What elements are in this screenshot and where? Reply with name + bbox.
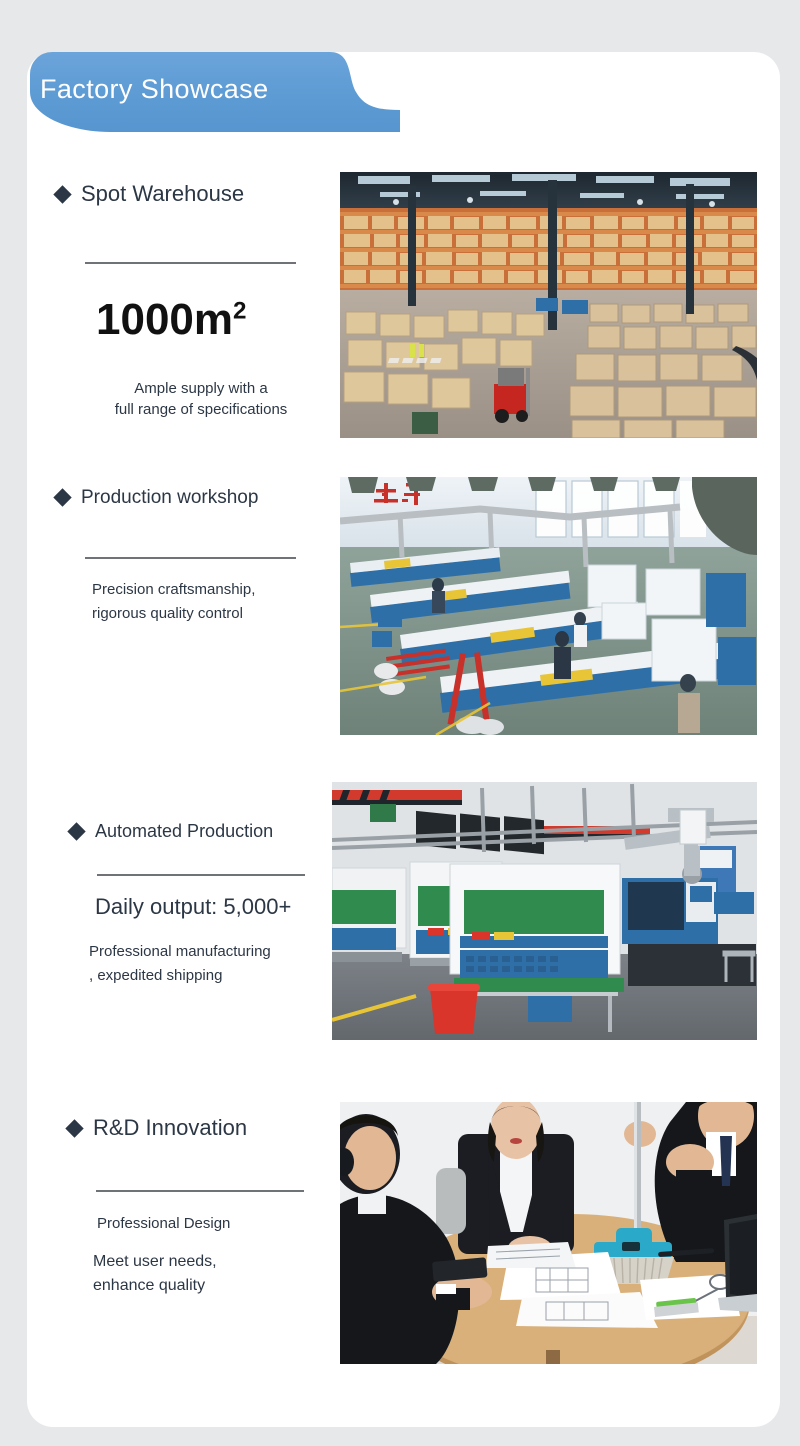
section-1-description: Ample supply with a full range of specif… [86, 378, 316, 420]
rd-meeting-photo-graphic [340, 1102, 757, 1364]
workshop-photo-graphic [340, 477, 757, 735]
rd-meeting-photo [340, 1102, 757, 1364]
automation-photo [332, 782, 757, 1040]
diamond-icon [67, 822, 85, 840]
section-1-metric-superscript: 2 [233, 297, 246, 324]
diamond-icon [53, 185, 71, 203]
section-3-heading-label: Automated Production [95, 822, 273, 840]
section-4-heading: R&D Innovation [68, 1117, 247, 1139]
section-4-description-secondary: Meet user needs, enhance quality [93, 1250, 333, 1298]
section-1-metric: 1000m2 [96, 295, 246, 345]
section-1-metric-value: 1000m [96, 295, 233, 344]
section-4-heading-label: R&D Innovation [93, 1117, 247, 1139]
section-1-heading: Spot Warehouse [56, 183, 244, 205]
section-3-heading: Automated Production [70, 822, 273, 840]
section-2-heading: Production workshop [56, 488, 258, 507]
diamond-icon [65, 1119, 83, 1137]
section-3-description: Professional manufacturing , expedited s… [89, 940, 329, 988]
warehouse-photo-graphic [340, 172, 757, 438]
diamond-icon [53, 488, 71, 506]
red-bin [428, 984, 480, 1034]
section-1-divider [85, 262, 296, 264]
section-2-description: Precision craftsmanship, rigorous qualit… [92, 578, 322, 626]
section-4-description-primary: Professional Design [97, 1213, 337, 1235]
factory-showcase-page: Factory Showcase Spot Warehouse 1000m2 A… [0, 0, 800, 1446]
section-3-metric: Daily output: 5,000+ [95, 894, 291, 920]
section-2-divider [85, 557, 296, 559]
section-1-heading-label: Spot Warehouse [81, 183, 244, 205]
page-title: Factory Showcase [40, 74, 269, 105]
section-3-divider [97, 874, 305, 876]
section-4-divider [96, 1190, 304, 1192]
workshop-photo [340, 477, 757, 735]
automation-photo-graphic [332, 782, 757, 1040]
section-2-heading-label: Production workshop [81, 488, 258, 507]
warehouse-photo [340, 172, 757, 438]
